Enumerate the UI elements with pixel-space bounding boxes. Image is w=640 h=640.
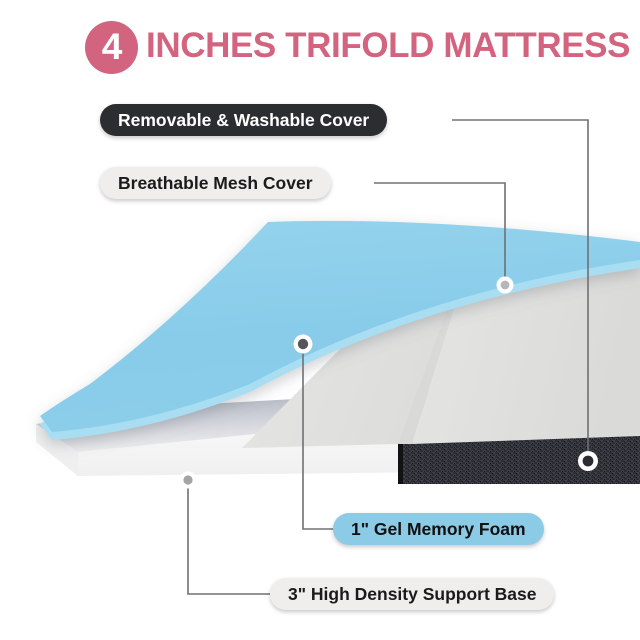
callout-breathable-mesh-cover[interactable]: Breathable Mesh Cover	[100, 167, 331, 199]
callout-label-text: 1" Gel Memory Foam	[351, 519, 526, 540]
mattress-svg	[0, 0, 640, 640]
marker-removable-washable-cover	[578, 451, 598, 471]
callout-label-text: 3" High Density Support Base	[288, 584, 536, 605]
marker-breathable-mesh-cover	[497, 277, 514, 294]
connector-support-base	[188, 487, 272, 594]
marker-support-base	[180, 472, 197, 489]
callout-gel-memory-foam[interactable]: 1" Gel Memory Foam	[333, 513, 544, 545]
callout-removable-washable-cover[interactable]: Removable & Washable Cover	[100, 104, 387, 136]
product-infographic: 4 INCHES TRIFOLD MATTRESS	[0, 0, 640, 640]
marker-gel-memory-foam	[294, 335, 313, 354]
callout-label-text: Removable & Washable Cover	[118, 110, 369, 131]
callout-high-density-support-base[interactable]: 3" High Density Support Base	[270, 578, 554, 610]
callout-label-text: Breathable Mesh Cover	[118, 173, 313, 194]
mattress-illustration	[0, 0, 640, 640]
